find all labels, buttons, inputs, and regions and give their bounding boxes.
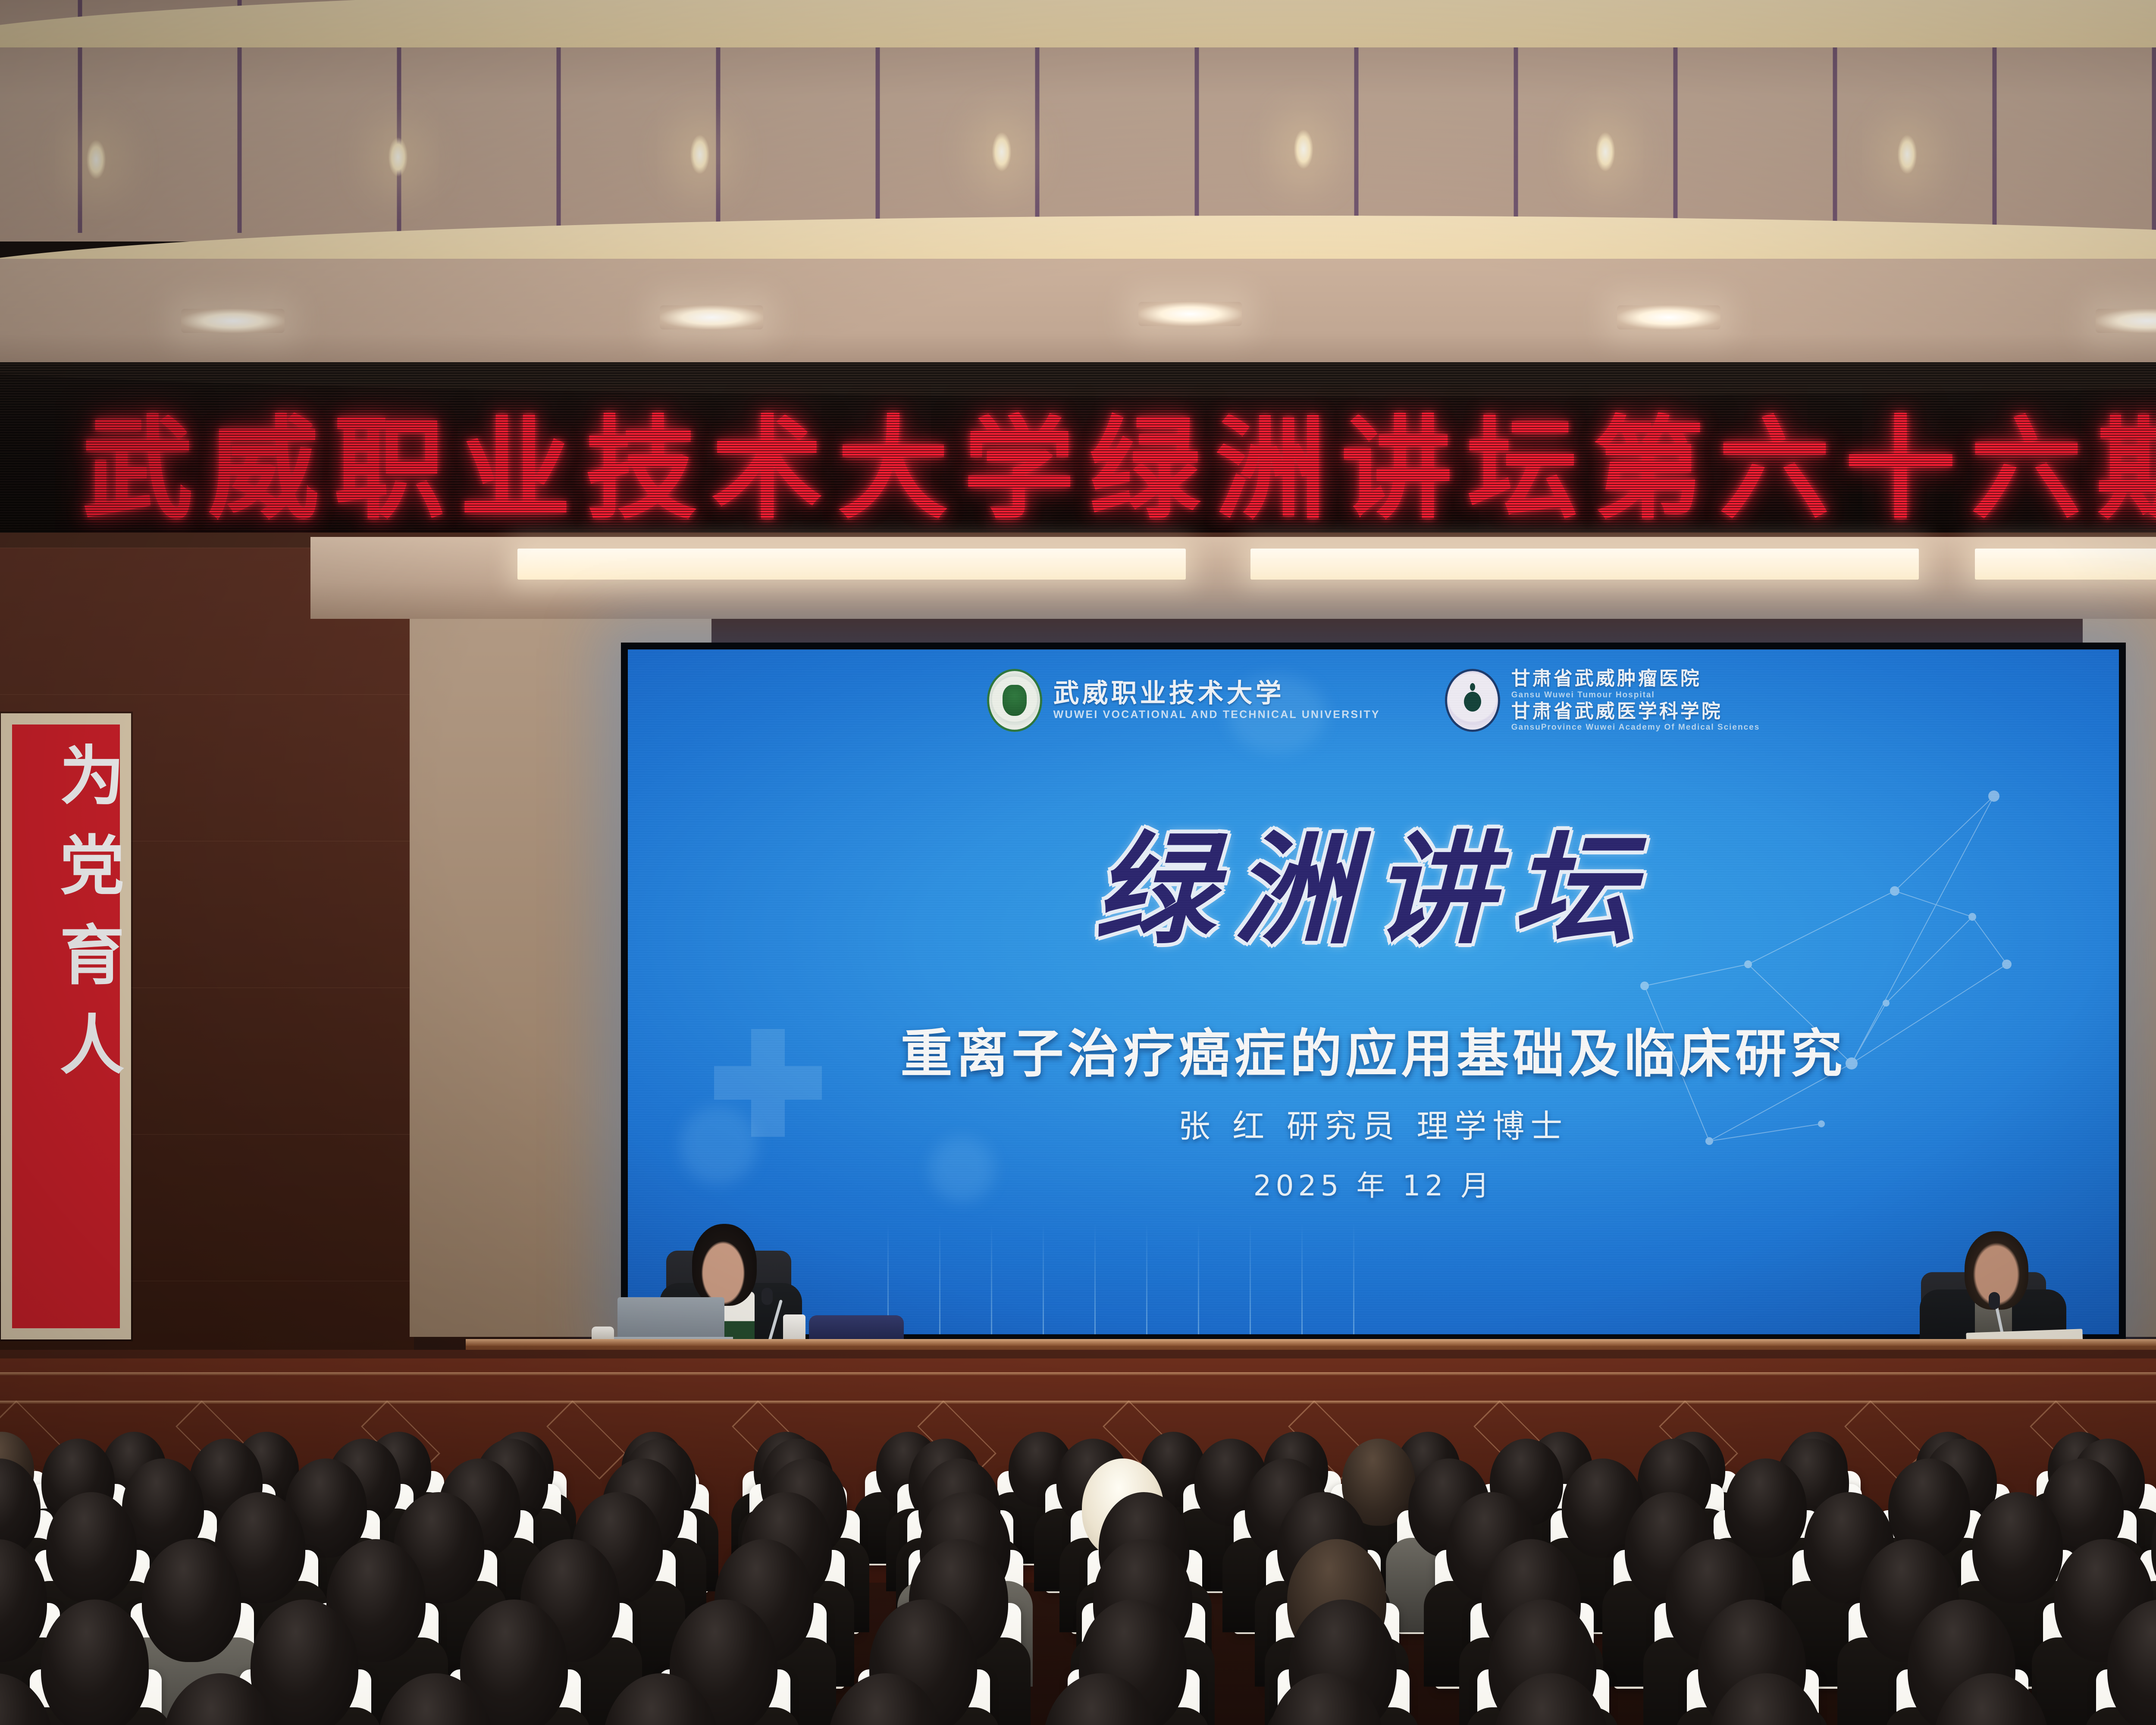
head-table-edge bbox=[466, 1339, 2156, 1346]
red-banner-left: 为党育人 bbox=[12, 724, 120, 1328]
downlight-2 bbox=[388, 137, 408, 177]
university-logo-text: 武威职业技术大学 WUWEI VOCATIONAL AND TECHNICAL … bbox=[1053, 680, 1380, 721]
wash-light-3 bbox=[1138, 302, 1242, 326]
slide-surface: 武威职业技术大学 WUWEI VOCATIONAL AND TECHNICAL … bbox=[628, 649, 2119, 1334]
lecture-title: 重离子治疗癌症的应用基础及临床研究 bbox=[628, 1012, 2119, 1087]
host-microphone-head bbox=[1989, 1292, 2000, 1309]
audience-head bbox=[1725, 1458, 1807, 1558]
university-seal-icon bbox=[987, 669, 1042, 732]
downlight-1 bbox=[86, 140, 106, 179]
panel-light-1 bbox=[517, 549, 1186, 580]
downlight-3 bbox=[690, 135, 710, 174]
wainscot-rail-top bbox=[0, 1372, 2156, 1375]
hospital-seal-icon bbox=[1445, 669, 1500, 732]
downlight-7 bbox=[1897, 135, 1917, 174]
slide-logo-row: 武威职业技术大学 WUWEI VOCATIONAL AND TECHNICAL … bbox=[628, 668, 2119, 732]
wainscot-rail-mid bbox=[0, 1401, 2156, 1404]
audience-head bbox=[46, 1492, 137, 1603]
audience-head bbox=[1972, 1492, 2063, 1603]
red-banner-left-text: 为党育人 bbox=[12, 742, 120, 1101]
hospital-name-en: Gansu Wuwei Tumour Hospital bbox=[1511, 690, 1760, 700]
downlight-5 bbox=[1294, 129, 1313, 169]
wash-light-2 bbox=[660, 305, 763, 329]
downlight-4 bbox=[992, 132, 1012, 172]
wash-light-4 bbox=[1617, 305, 1720, 329]
slide-light-rays bbox=[861, 1222, 1378, 1334]
forum-title: 绿洲讲坛 bbox=[628, 792, 2119, 967]
led-display-screen: 武威职业技术大学 WUWEI VOCATIONAL AND TECHNICAL … bbox=[621, 643, 2126, 1341]
hospital-logo: 甘肃省武威肿瘤医院 Gansu Wuwei Tumour Hospital 甘肃… bbox=[1445, 668, 1760, 732]
wash-light-5 bbox=[2096, 309, 2156, 333]
speaker-microphone-head bbox=[761, 1288, 773, 1305]
university-name-en: WUWEI VOCATIONAL AND TECHNICAL UNIVERSIT… bbox=[1053, 709, 1380, 721]
academy-name-en: GansuProvince Wuwei Academy Of Medical S… bbox=[1511, 723, 1760, 732]
slide-date: 2025 年 12 月 bbox=[628, 1163, 2119, 1204]
led-marquee-banner: 武威职业技术大学绿洲讲坛第六十六期报告会 bbox=[0, 362, 2156, 535]
audience-head bbox=[142, 1539, 241, 1662]
university-logo: 武威职业技术大学 WUWEI VOCATIONAL AND TECHNICAL … bbox=[987, 669, 1380, 732]
laptop-screen bbox=[617, 1297, 724, 1339]
panel-light-3 bbox=[1975, 549, 2156, 580]
academy-name-cn: 甘肃省武威医学科学院 bbox=[1511, 701, 1760, 722]
wash-light-1 bbox=[181, 309, 285, 333]
lecture-hall-photo: 武威职业技术大学绿洲讲坛第六十六期报告会 为党育人 bbox=[0, 0, 2156, 1725]
ceiling-band-upper bbox=[0, 0, 2156, 47]
led-banner-text: 武威职业技术大学绿洲讲坛第六十六期报告会 bbox=[82, 379, 2156, 535]
hospital-name-cn: 甘肃省武威肿瘤医院 bbox=[1511, 668, 1760, 689]
hospital-logo-text: 甘肃省武威肿瘤医院 Gansu Wuwei Tumour Hospital 甘肃… bbox=[1511, 668, 1760, 732]
presenter-line: 张 红 研究员 理学博士 bbox=[628, 1101, 2119, 1147]
audience-head bbox=[41, 1600, 149, 1725]
panel-light-2 bbox=[1250, 549, 1919, 580]
speaker-head bbox=[692, 1224, 757, 1306]
downlight-6 bbox=[1595, 132, 1615, 172]
university-name-cn: 武威职业技术大学 bbox=[1053, 680, 1380, 708]
